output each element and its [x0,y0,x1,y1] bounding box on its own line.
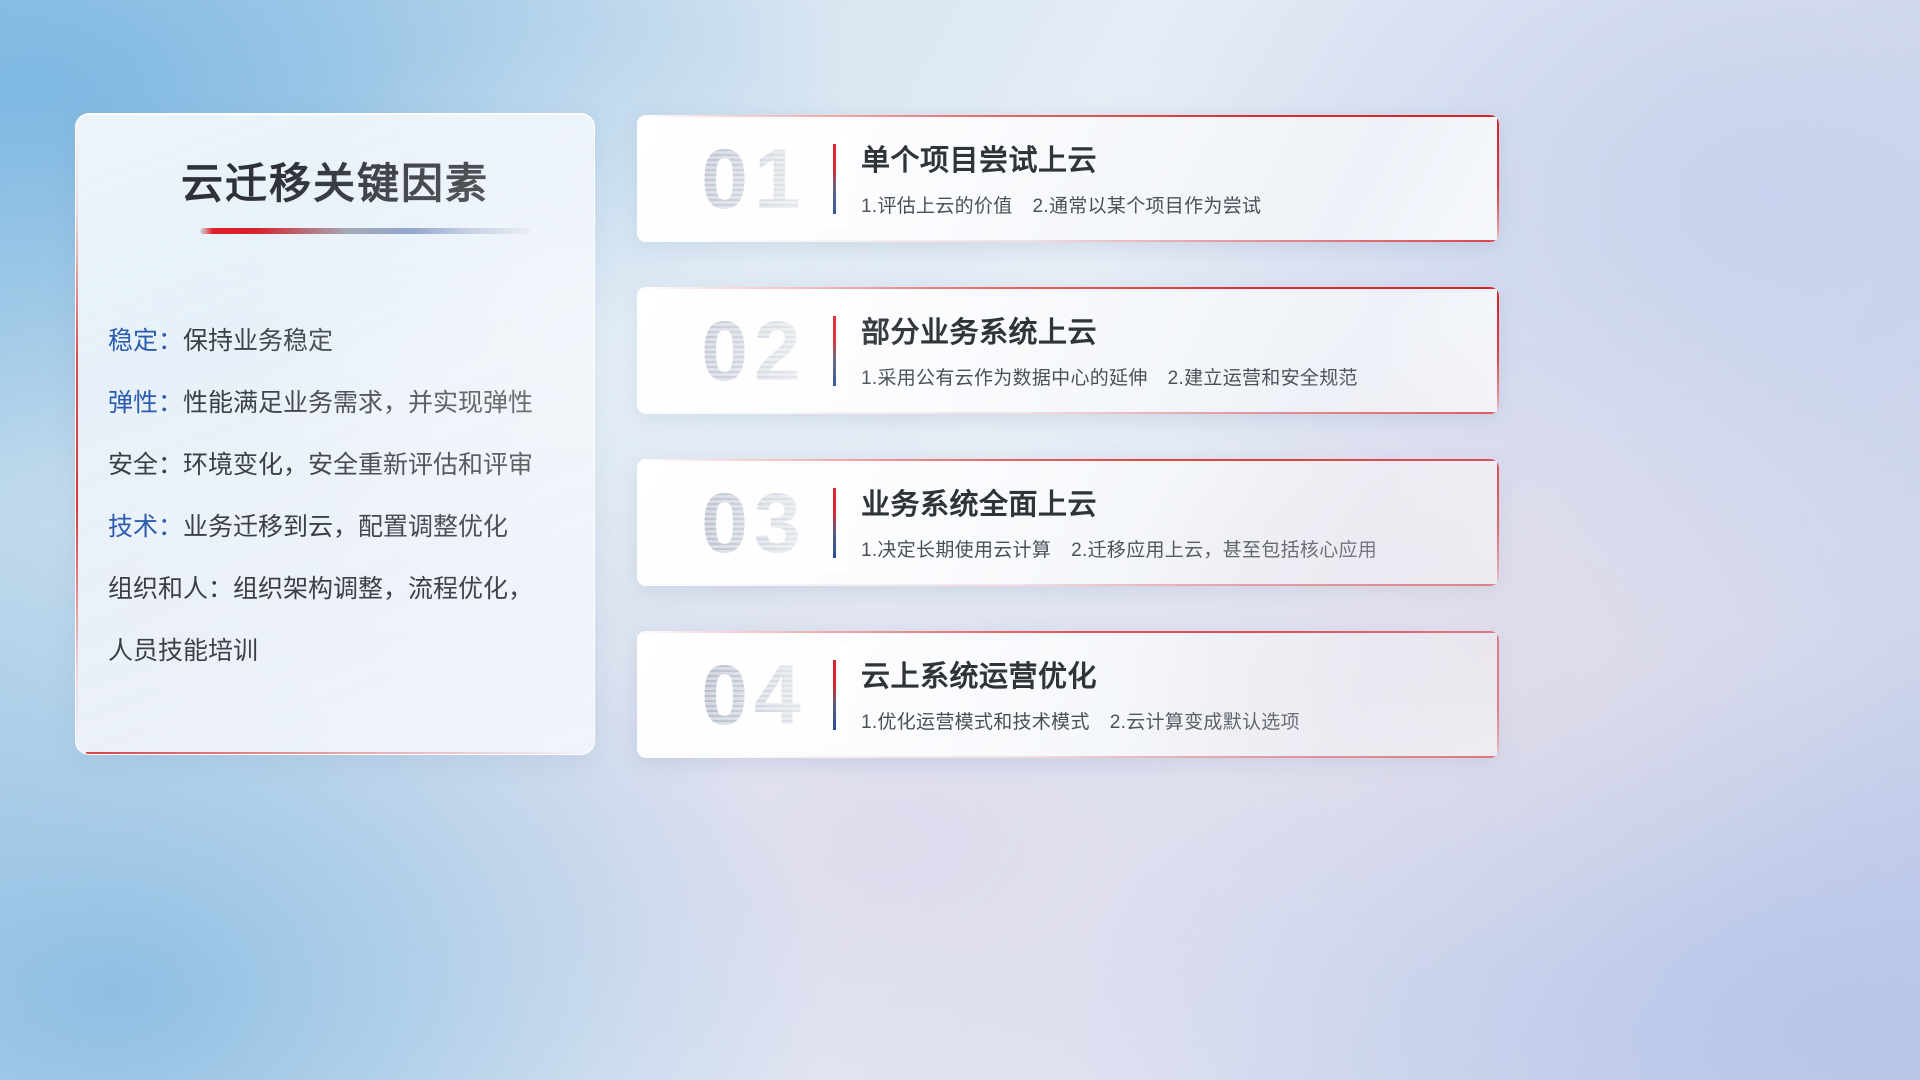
card-divider-bar [833,316,836,386]
factor-text: 人员技能培训 [108,637,258,665]
card-description-item-1: 1.优化运营模式和技术模式 [861,712,1090,733]
card-description-item-1: 1.采用公有云作为数据中心的延伸 [861,368,1148,389]
card-description: 1.评估上云的价值2.通常以某个项目作为尝试 [861,191,1261,218]
factor-row: 人员技能培训 [108,620,574,682]
card-number: 01 [659,129,849,229]
factor-text: 业务迁移到云，配置调整优化 [183,513,508,541]
stage-card-03[interactable]: 03 业务系统全面上云 1.决定长期使用云计算2.迁移应用上云，甚至包括核心应用 [637,459,1499,586]
card-divider-bar [833,488,836,558]
factor-row: 稳定：保持业务稳定 [108,310,574,372]
card-right-accent [1497,287,1499,414]
title-underline-gradient [200,228,530,234]
factor-text: 保持业务稳定 [183,327,333,355]
factor-row: 组织和人：组织架构调整，流程优化， [108,558,574,620]
stage-card-04[interactable]: 04 云上系统运营优化 1.优化运营模式和技术模式2.云计算变成默认选项 [637,631,1499,758]
card-number: 02 [659,301,849,401]
card-right-accent [1497,115,1499,242]
card-bottom-accent [637,756,1499,758]
factor-text: 组织架构调整，流程优化， [233,575,533,603]
card-bottom-accent [637,584,1499,586]
card-heading: 云上系统运营优化 [861,653,1097,695]
card-heading: 单个项目尝试上云 [861,137,1097,179]
factor-label: 安全： [108,451,183,479]
factor-label: 组织和人： [108,575,233,603]
factor-label: 稳定： [108,327,183,355]
stage-card-02[interactable]: 02 部分业务系统上云 1.采用公有云作为数据中心的延伸2.建立运营和安全规范 [637,287,1499,414]
factor-list: 稳定：保持业务稳定 弹性：性能满足业务需求，并实现弹性 安全：环境变化，安全重新… [108,310,574,682]
card-right-accent [1497,459,1499,586]
key-factors-panel: 云迁移关键因素 稳定：保持业务稳定 弹性：性能满足业务需求，并实现弹性 安全：环… [75,113,595,755]
card-description-item-2: 2.云计算变成默认选项 [1110,712,1300,733]
card-description-item-2: 2.建立运营和安全规范 [1168,368,1358,389]
panel-left-accent-bar [76,122,78,746]
card-number: 03 [659,473,849,573]
card-description: 1.采用公有云作为数据中心的延伸2.建立运营和安全规范 [861,363,1358,390]
card-bottom-accent [637,412,1499,414]
card-right-accent [1497,631,1499,758]
factor-row: 弹性：性能满足业务需求，并实现弹性 [108,372,574,434]
card-number: 04 [659,645,849,745]
factor-label: 技术： [108,513,183,541]
card-heading: 业务系统全面上云 [861,481,1097,523]
card-top-accent [637,631,1499,633]
card-top-accent [637,115,1499,117]
stage-card-01[interactable]: 01 单个项目尝试上云 1.评估上云的价值2.通常以某个项目作为尝试 [637,115,1499,242]
panel-bottom-accent-bar [86,752,584,754]
card-heading: 部分业务系统上云 [861,309,1097,351]
slide-canvas: 云迁移关键因素 稳定：保持业务稳定 弹性：性能满足业务需求，并实现弹性 安全：环… [0,0,1920,1080]
card-divider-bar [833,144,836,214]
card-description: 1.决定长期使用云计算2.迁移应用上云，甚至包括核心应用 [861,535,1377,562]
factor-text: 环境变化，安全重新评估和评审 [183,451,533,479]
card-top-accent [637,459,1499,461]
card-bottom-accent [637,240,1499,242]
card-description-item-1: 1.评估上云的价值 [861,196,1013,217]
card-description-item-2: 2.迁移应用上云，甚至包括核心应用 [1071,540,1377,561]
factor-label: 弹性： [108,389,183,417]
card-description: 1.优化运营模式和技术模式2.云计算变成默认选项 [861,707,1300,734]
factor-text: 性能满足业务需求，并实现弹性 [183,389,533,417]
card-description-item-2: 2.通常以某个项目作为尝试 [1033,196,1262,217]
page-title: 云迁移关键因素 [76,150,594,211]
factor-row: 安全：环境变化，安全重新评估和评审 [108,434,574,496]
card-description-item-1: 1.决定长期使用云计算 [861,540,1051,561]
card-divider-bar [833,660,836,730]
card-top-accent [637,287,1499,289]
factor-row: 技术：业务迁移到云，配置调整优化 [108,496,574,558]
